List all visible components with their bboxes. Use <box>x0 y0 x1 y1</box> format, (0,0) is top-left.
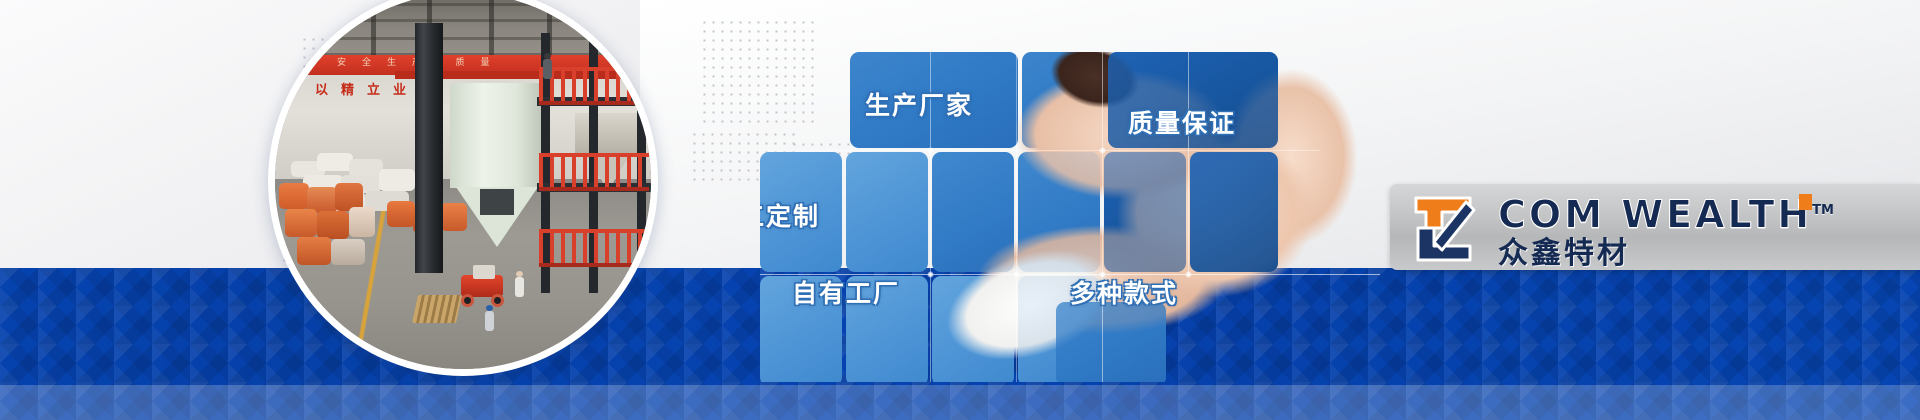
grid-node-icon <box>1013 271 1020 278</box>
mosaic-tile-overlay <box>1190 152 1278 272</box>
band-light-strip <box>0 385 1920 420</box>
mosaic-tile-overlay <box>1018 152 1100 272</box>
grid-node-icon <box>927 271 934 278</box>
com-wealth-logo-mark-icon <box>1408 188 1488 268</box>
tile-label-manufacturer: 生产厂家 <box>865 86 973 122</box>
logo-english-text: COM WEALTH <box>1498 193 1812 237</box>
tile-label-quality: 质量保证 <box>1128 104 1236 140</box>
mosaic-tile-overlay <box>1104 152 1186 272</box>
logo-text-block: COM WEALTHTM 众鑫特材 <box>1498 190 1918 268</box>
logo-trademark-symbol: TM <box>1812 203 1834 218</box>
mosaic-tile <box>846 152 928 272</box>
tile-label-custom: 加工定制 <box>760 197 820 233</box>
promotional-banner: 安全生产 质量 以精立业 <box>0 0 1920 420</box>
grid-line <box>760 150 1320 151</box>
grid-node-icon <box>927 147 934 154</box>
grid-node-icon <box>1185 271 1192 278</box>
mosaic-tile-overlay <box>1056 302 1166 382</box>
logo-chinese-wordmark: 众鑫特材 <box>1498 237 1918 271</box>
grid-line <box>1102 52 1103 382</box>
mosaic-tile-overlay <box>932 152 1014 272</box>
logo-english-wordmark: COM WEALTHTM <box>1498 190 1918 236</box>
grid-line <box>1188 52 1189 274</box>
grid-node-icon <box>1099 147 1106 154</box>
tile-label-own-factory: 自有工厂 <box>792 274 900 310</box>
tile-label-many-styles: 多种款式 <box>1070 274 1178 310</box>
grid-line <box>1016 52 1017 382</box>
logo-orange-accent-icon <box>1799 194 1812 210</box>
factory-interior-photo: 安全生产 质量 以精立业 <box>275 0 651 369</box>
